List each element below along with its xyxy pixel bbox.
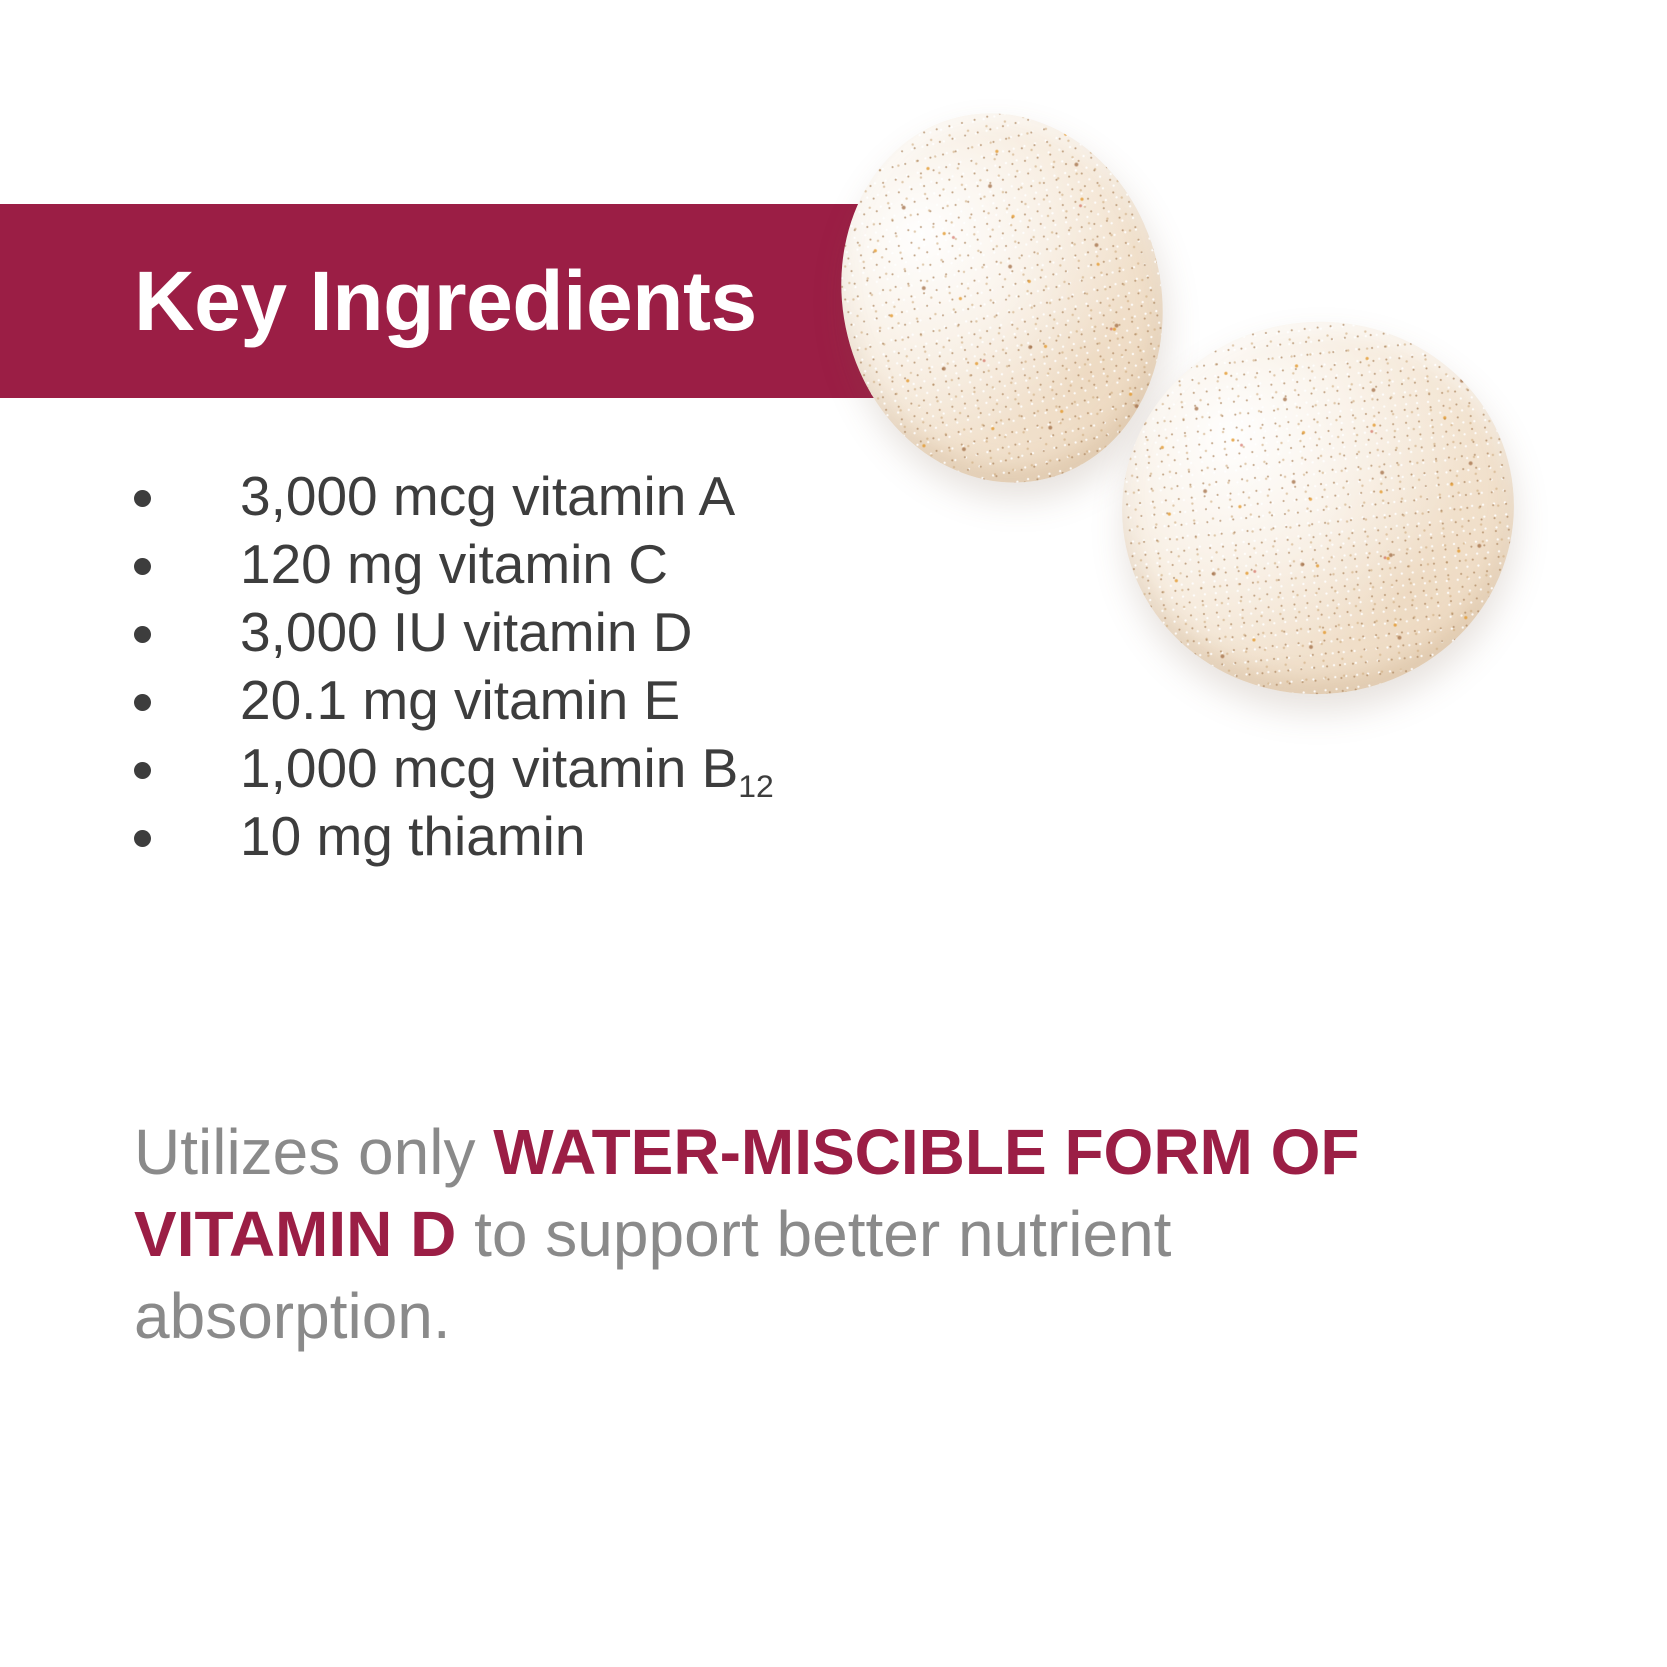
bullet-icon [134,490,151,507]
infographic-page: Key Ingredients 3,000 mcg vitamin A 120 … [0,0,1667,1667]
bullet-icon [134,626,151,643]
key-ingredients-banner: Key Ingredients [0,204,905,398]
statement-text: Utilizes only WATER-MISCIBLE FORM OF VIT… [134,1112,1414,1358]
effervescent-tablet-lower [1104,303,1533,714]
ingredient-label: 20.1 mg vitamin E [240,669,680,731]
list-item: 3,000 IU vitamin D [0,598,774,666]
ingredient-label-text: 1,000 mcg vitamin B [240,737,738,799]
list-item: 3,000 mcg vitamin A [0,462,774,530]
bullet-icon [134,762,151,779]
ingredient-list: 3,000 mcg vitamin A 120 mg vitamin C 3,0… [0,462,774,870]
ingredient-label: 10 mg thiamin [240,805,585,867]
bullet-icon [134,830,151,847]
ingredient-subscript: 12 [738,768,773,804]
list-item: 1,000 mcg vitamin B12 [0,734,774,802]
statement-lead: Utilizes only [134,1116,493,1188]
list-item: 20.1 mg vitamin E [0,666,774,734]
ingredient-label: 3,000 mcg vitamin A [240,465,735,527]
ingredient-label: 3,000 IU vitamin D [240,601,692,663]
list-item: 120 mg vitamin C [0,530,774,598]
bullet-icon [134,694,151,711]
list-item: 10 mg thiamin [0,802,774,870]
ingredient-label: 1,000 mcg vitamin B12 [240,737,774,799]
page-title: Key Ingredients [0,259,757,343]
bullet-icon [134,558,151,575]
ingredient-label: 120 mg vitamin C [240,533,668,595]
